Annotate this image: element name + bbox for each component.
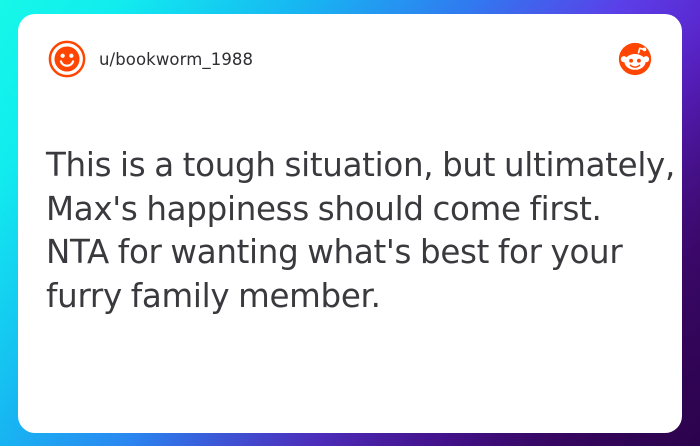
comment-line: furry family member. — [46, 275, 666, 319]
comment-line: This is a tough situation, but ultimatel… — [46, 144, 666, 188]
comment-card: u/bookworm_1988 — [18, 14, 682, 433]
smiley-face-avatar-icon — [48, 40, 86, 78]
comment-line: Max's happiness should come first. — [46, 188, 666, 232]
username-label: u/bookworm_1988 — [99, 50, 253, 69]
comment-text: This is a tough situation, but ultimatel… — [46, 144, 666, 318]
avatar[interactable] — [46, 40, 86, 78]
card-body: This is a tough situation, but ultimatel… — [46, 82, 654, 409]
reddit-snoo-logo-icon — [618, 42, 652, 76]
screenshot-root: u/bookworm_1988 — [0, 0, 700, 446]
comment-line: NTA for wanting what's best for your — [46, 231, 666, 275]
card-header: u/bookworm_1988 — [46, 36, 654, 82]
